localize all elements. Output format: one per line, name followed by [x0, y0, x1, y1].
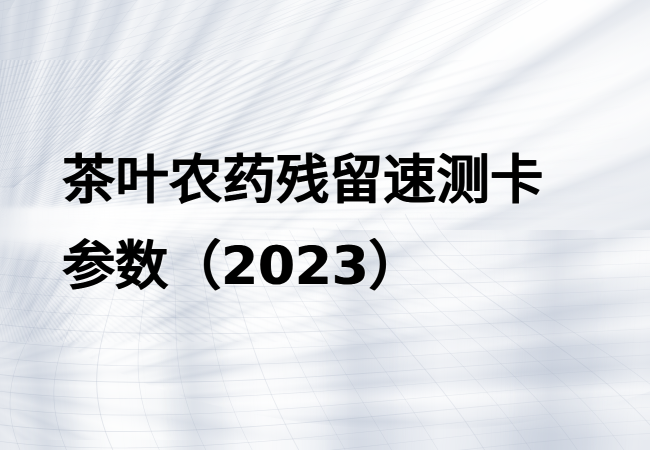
page-title-line-2: 参数（2023）	[62, 224, 622, 310]
title-banner: 茶叶农药残留速测卡 参数（2023）	[0, 0, 650, 450]
title-block: 茶叶农药残留速测卡 参数（2023）	[62, 138, 622, 310]
page-title-line-1: 茶叶农药残留速测卡	[62, 138, 622, 224]
